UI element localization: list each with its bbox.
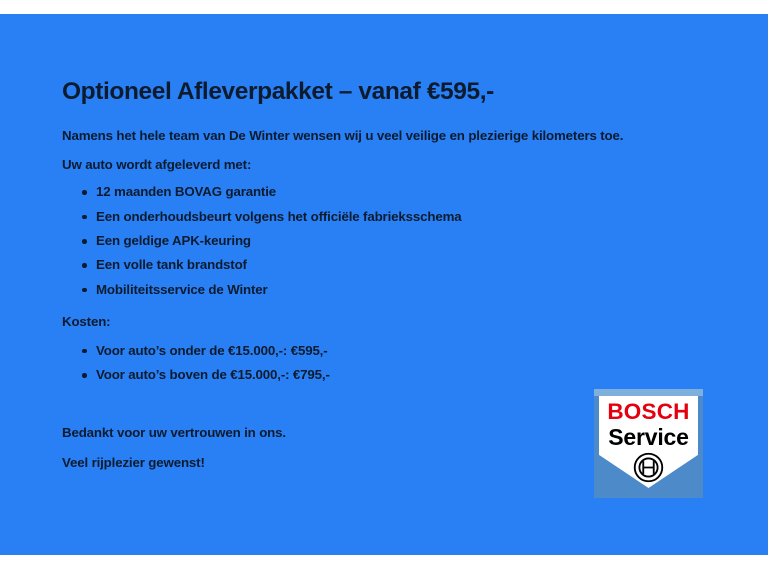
slide-canvas: Optioneel Afleverpakket – vanaf €595,- N… [0, 0, 768, 576]
list-item-label: Voor auto’s onder de €15.000,-: €595,- [96, 343, 328, 358]
list-item-label: 12 maanden BOVAG garantie [96, 184, 276, 199]
bullet-dot-icon [82, 263, 87, 268]
list-item: Mobiliteitsservice de Winter [62, 282, 702, 298]
bullet-dot-icon [82, 239, 87, 244]
logo-top-strip [594, 389, 703, 396]
list-item: Een geldige APK-keuring [62, 233, 702, 249]
costs-list: Voor auto’s onder de €15.000,-: €595,- V… [62, 343, 702, 383]
bullet-dot-icon [82, 373, 87, 378]
bullet-dot-icon [82, 215, 87, 220]
bosch-armature-emblem-icon [633, 452, 664, 483]
page-title: Optioneel Afleverpakket – vanaf €595,- [62, 78, 702, 106]
list-item-label: Een volle tank brandstof [96, 257, 247, 272]
list-item: 12 maanden BOVAG garantie [62, 184, 702, 200]
bullet-dot-icon [82, 190, 87, 195]
bullet-dot-icon [82, 349, 87, 354]
delivery-list: 12 maanden BOVAG garantie Een onderhouds… [62, 184, 702, 298]
list-item: Een onderhoudsbeurt volgens het officiël… [62, 209, 702, 225]
bullet-dot-icon [82, 288, 87, 293]
list-item: Voor auto’s onder de €15.000,-: €595,- [62, 343, 702, 359]
logo-brand-text: BOSCH [594, 401, 703, 424]
list-item-label: Mobiliteitsservice de Winter [96, 282, 268, 297]
intro-paragraph: Namens het hele team van De Winter wense… [62, 128, 702, 144]
list-item-label: Voor auto’s boven de €15.000,-: €795,- [96, 367, 330, 382]
blue-content-panel: Optioneel Afleverpakket – vanaf €595,- N… [0, 14, 768, 555]
list-item-label: Een onderhoudsbeurt volgens het officiël… [96, 209, 462, 224]
list-item: Voor auto’s boven de €15.000,-: €795,- [62, 367, 702, 383]
list-item: Een volle tank brandstof [62, 257, 702, 273]
costs-heading: Kosten: [62, 314, 702, 330]
list-item-label: Een geldige APK-keuring [96, 233, 251, 248]
bosch-service-logo: BOSCH Service [594, 389, 703, 498]
delivery-heading: Uw auto wordt afgeleverd met: [62, 157, 702, 173]
logo-service-text: Service [594, 426, 703, 449]
